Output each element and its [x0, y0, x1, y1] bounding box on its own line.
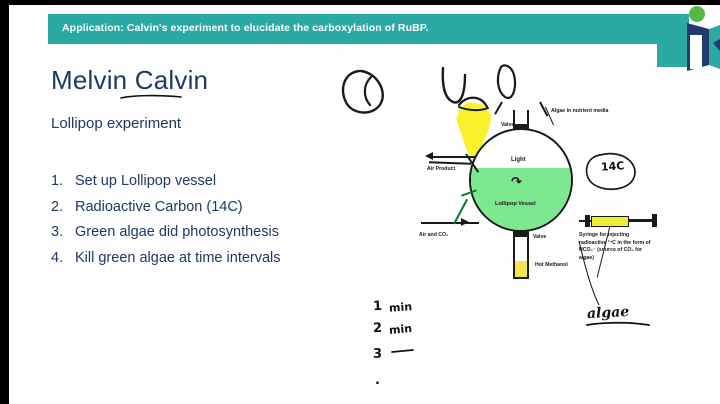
- list-item-label: Radioactive Carbon (14C): [75, 199, 243, 215]
- lollipop-vessel-diagram: ↷ Algae in: [413, 100, 713, 300]
- label-air-and-co2: Air and CO₂: [419, 232, 448, 240]
- label-light: Light: [511, 156, 526, 165]
- list-item-number: 4.: [51, 250, 75, 266]
- list-item-label: Kill green algae at time intervals: [75, 250, 281, 266]
- inflow-arrow-icon: [461, 218, 469, 226]
- ink-time-2-unit: min: [388, 322, 412, 337]
- screenshot-stage: Application: Calvin's experiment to eluc…: [0, 0, 720, 404]
- syringe-plunger: [628, 219, 654, 222]
- list-item: 1. Set up Lollipop vessel: [51, 173, 381, 189]
- methanol-liquid: [515, 261, 527, 277]
- syringe-barrel: [591, 216, 629, 227]
- experiment-steps-list: 1. Set up Lollipop vessel 2. Radioactive…: [51, 173, 381, 275]
- flask-neck-left-stroke: [494, 102, 503, 115]
- outflow-arrow-icon: [425, 152, 433, 160]
- list-item-label: Green algae did photosynthesis: [75, 224, 279, 240]
- ink-time-1-number: 1: [373, 299, 383, 314]
- outflow-tube-lower: [429, 161, 471, 164]
- application-banner: Application: Calvin's experiment to eluc…: [48, 14, 689, 44]
- list-item: 4. Kill green algae at time intervals: [51, 250, 381, 266]
- book-logo: [657, 5, 720, 77]
- label-top-valve: Valve: [501, 122, 514, 130]
- ink-time-2-number: 2: [373, 321, 383, 336]
- inflow-tube: [421, 222, 479, 224]
- list-item-number: 3.: [51, 224, 75, 240]
- label-syringe-description: Syringe for injecting radioactive ¹⁴C in…: [579, 232, 653, 262]
- ink-time-3-number: 3: [373, 347, 382, 362]
- ink-time-4-dot: .: [375, 373, 380, 388]
- label-bottom-valve: Valve: [533, 234, 546, 242]
- stir-arrow-icon: ↷: [511, 174, 522, 190]
- syringe-plunger-cap: [652, 214, 657, 227]
- label-hot-methanol: Hot Methanol: [535, 262, 568, 270]
- methanol-tube: [513, 237, 529, 279]
- label-algae-media: Algae in nutrient media: [551, 108, 608, 116]
- list-item-label: Set up Lollipop vessel: [75, 173, 216, 189]
- bottom-valve-shape: [513, 230, 529, 237]
- ink-algae-note: algae: [587, 304, 630, 322]
- label-air-product: Air Product: [427, 166, 455, 174]
- page-title: Melvin Calvin: [51, 65, 208, 96]
- list-item-number: 2.: [51, 199, 75, 215]
- ink-time-1-unit: min: [389, 300, 413, 315]
- list-item: 2. Radioactive Carbon (14C): [51, 199, 381, 215]
- slide-canvas: Application: Calvin's experiment to eluc…: [9, 5, 720, 404]
- application-banner-text: Application: Calvin's experiment to eluc…: [62, 22, 429, 34]
- syringe-hub: [585, 215, 590, 227]
- list-item: 3. Green algae did photosynthesis: [51, 224, 381, 240]
- label-lollipop-vessel: Lollipop Vessel: [495, 200, 536, 208]
- list-item-number: 1.: [51, 173, 75, 189]
- page-subtitle: Lollipop experiment: [51, 115, 181, 132]
